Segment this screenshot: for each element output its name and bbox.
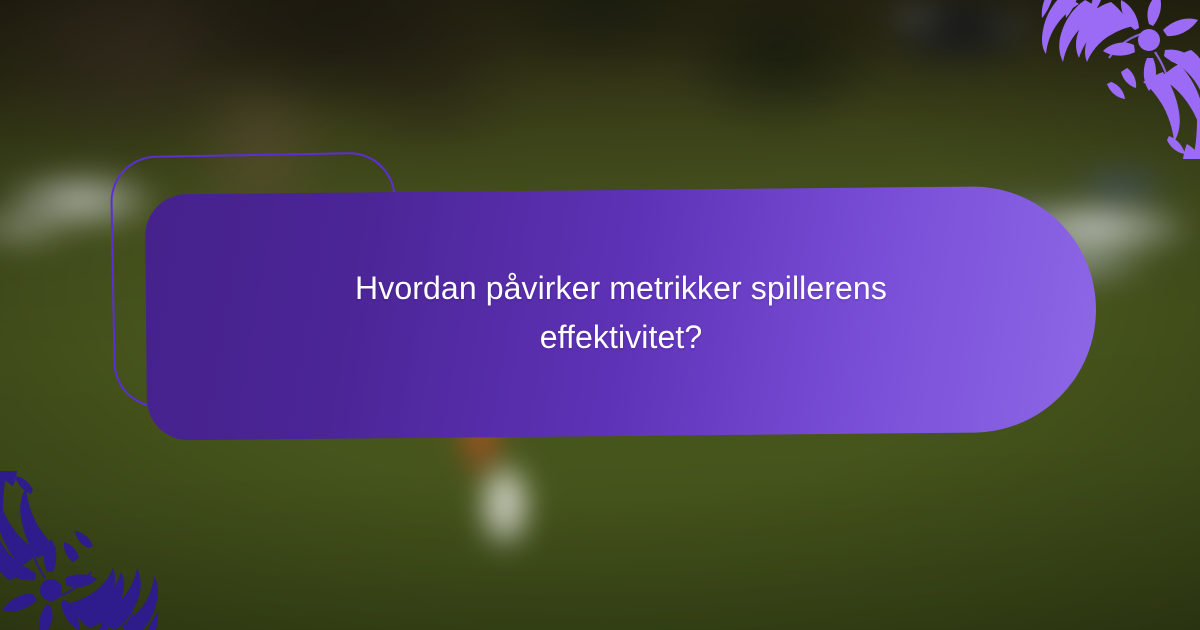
share-card-canvas: Hvordan påvirker metrikker spillerens ef… (0, 0, 1200, 630)
headline-card: Hvordan påvirker metrikker spillerens ef… (145, 185, 1097, 440)
headline-text: Hvordan påvirker metrikker spillerens ef… (281, 264, 961, 361)
headline-card-group: Hvordan påvirker metrikker spillerens ef… (0, 0, 1200, 630)
